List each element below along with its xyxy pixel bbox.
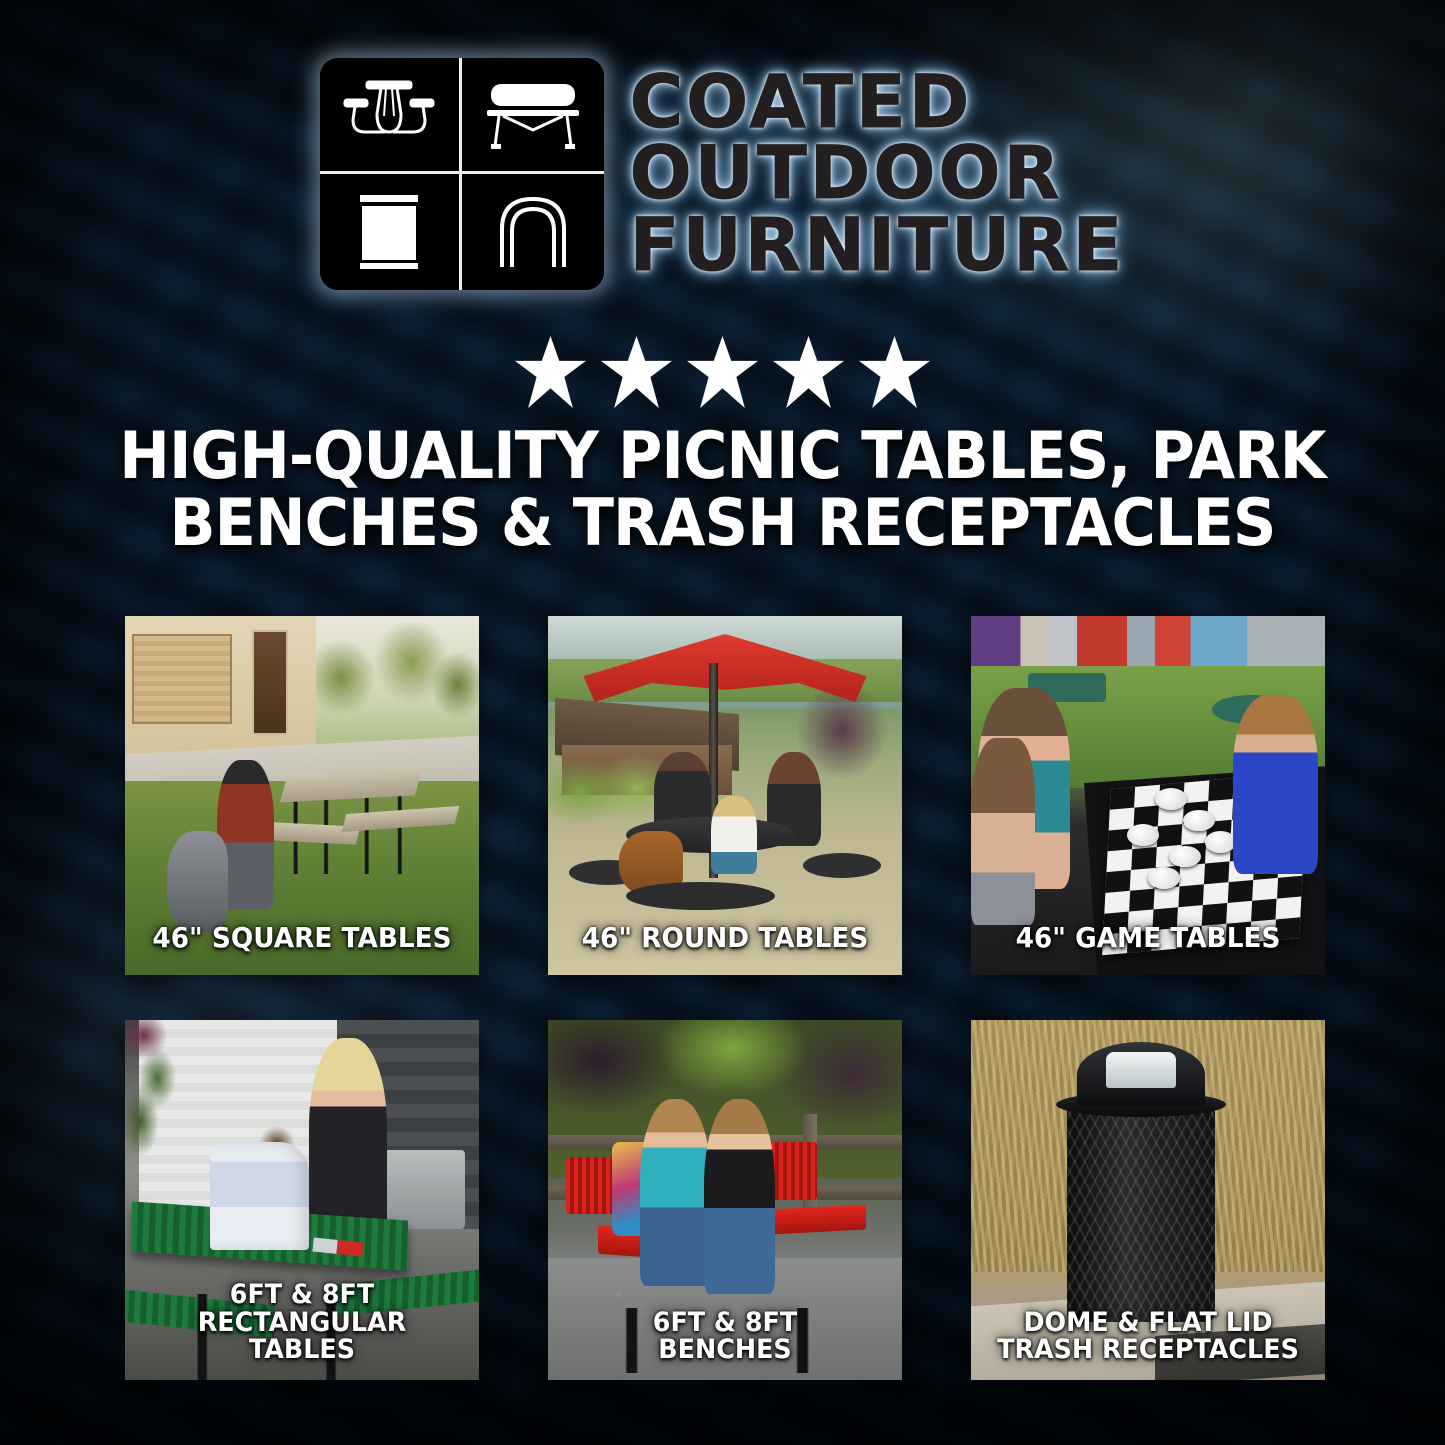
star-icon	[686, 336, 760, 408]
product-tile-round-tables[interactable]: 46" ROUND TABLES	[548, 616, 902, 975]
trash-receptacle-icon	[320, 174, 462, 290]
bench-icon	[462, 58, 604, 174]
headline-line-2: BENCHES & TRASH RECEPTACLES	[106, 491, 1338, 558]
brand-wordmark: COATED OUTDOOR FURNITURE	[630, 68, 1126, 280]
headline-line-1: HIGH-QUALITY PICNIC TABLES, PARK	[119, 419, 1325, 494]
dome-lid-icon	[462, 174, 604, 290]
product-tile-rectangular-tables[interactable]: 6FT & 8FT RECTANGULAR TABLES	[125, 1020, 479, 1380]
product-caption: DOME & FLAT LID TRASH RECEPTACLES	[987, 1309, 1308, 1364]
product-tile-game-tables[interactable]: 46" GAME TABLES	[971, 616, 1325, 975]
product-tile-square-tables[interactable]: 46" SQUARE TABLES	[125, 616, 479, 975]
brand-name-line-2: OUTDOOR	[630, 139, 1126, 208]
product-caption: 46" SQUARE TABLES	[141, 924, 462, 953]
star-icon	[600, 336, 674, 408]
star-icon	[772, 336, 846, 408]
star-rating	[0, 336, 1445, 408]
star-icon	[514, 336, 588, 408]
page-title: HIGH-QUALITY PICNIC TABLES, PARK BENCHES…	[106, 424, 1338, 558]
product-caption: 6FT & 8FT BENCHES	[564, 1309, 885, 1364]
product-caption: 46" GAME TABLES	[987, 924, 1308, 953]
brand-name-line-1: COATED	[630, 68, 1126, 137]
product-caption: 6FT & 8FT RECTANGULAR TABLES	[141, 1281, 462, 1364]
promo-banner: COATED OUTDOOR FURNITURE HIGH-QUALITY PI…	[0, 0, 1445, 1445]
product-tile-benches[interactable]: 6FT & 8FT BENCHES	[548, 1020, 902, 1380]
star-icon	[858, 336, 932, 408]
brand-name-line-3: FURNITURE	[630, 211, 1126, 280]
product-tile-trash-receptacles[interactable]: DOME & FLAT LID TRASH RECEPTACLES	[971, 1020, 1325, 1380]
product-caption: 46" ROUND TABLES	[564, 924, 885, 953]
square-picnic-table-icon	[320, 58, 462, 174]
brand-logo: COATED OUTDOOR FURNITURE	[0, 58, 1445, 290]
product-grid: 46" SQUARE TABLES 46" ROUND TABLES	[125, 616, 1325, 1380]
logo-mark-icon	[320, 58, 604, 290]
